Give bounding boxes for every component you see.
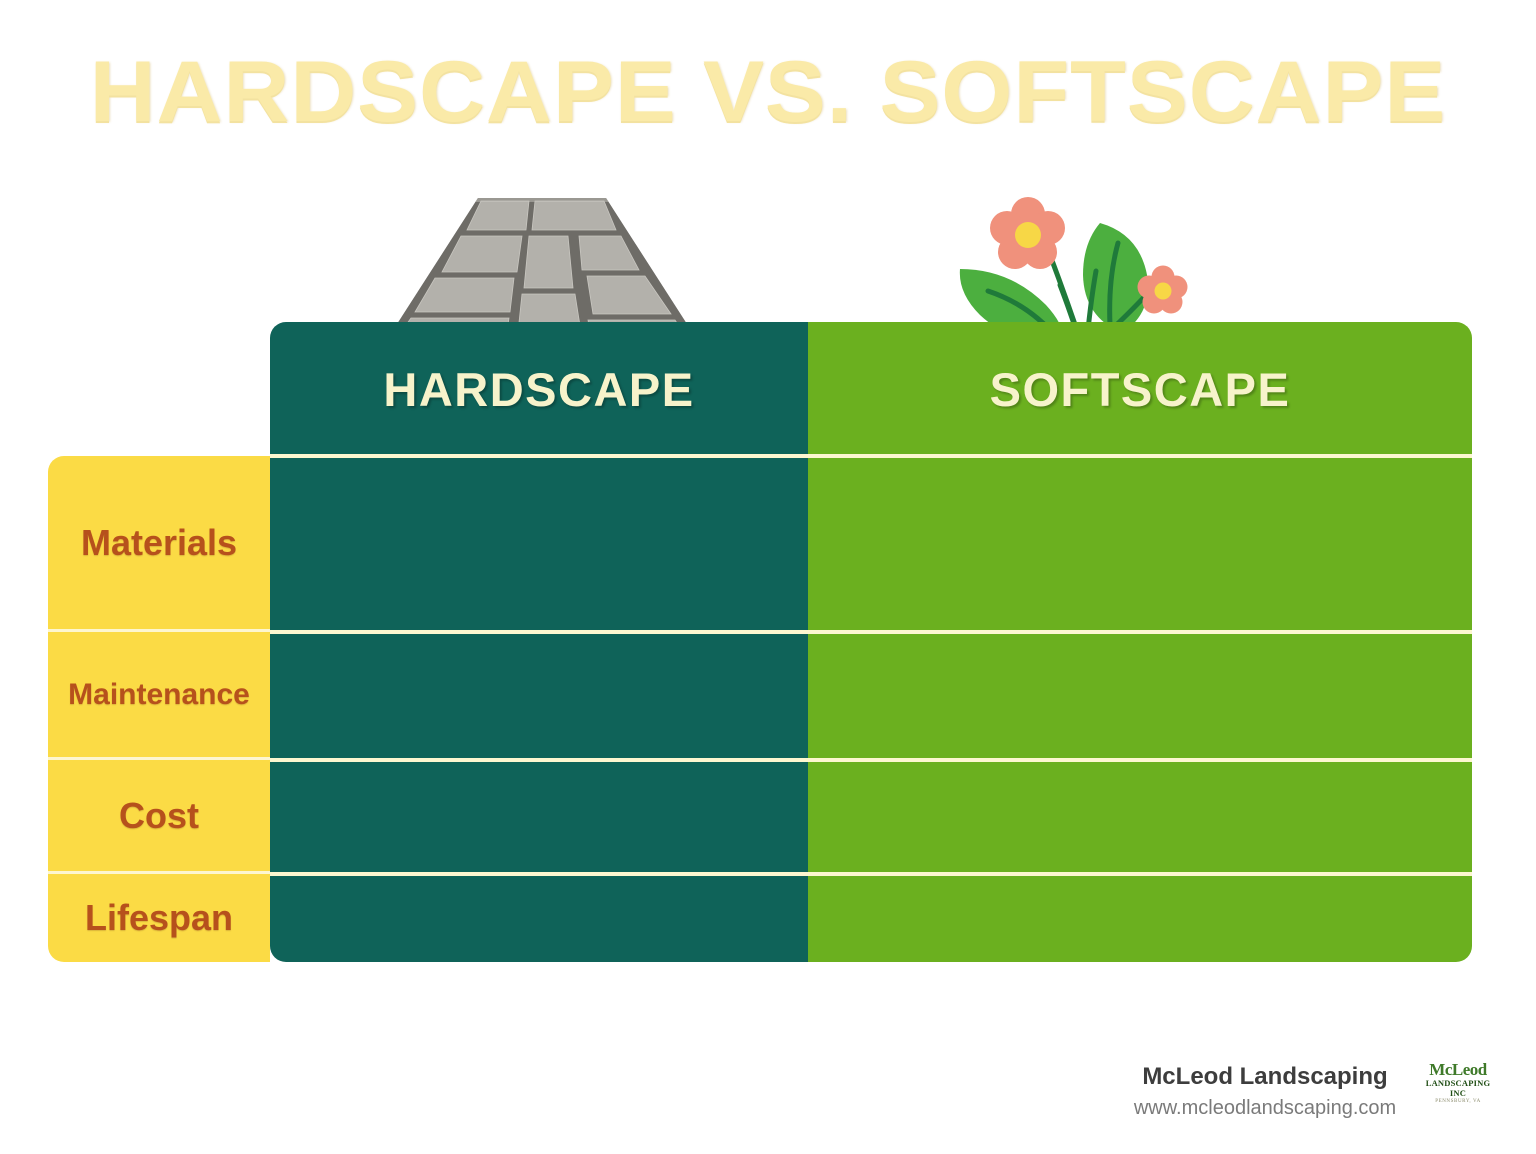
page-title: HARDSCAPE VS. SOFTSCAPE: [0, 44, 1536, 140]
logo-main-text: McLeod: [1417, 1061, 1499, 1078]
footer-brand-name: McLeod Landscaping: [1120, 1063, 1410, 1091]
mcleod-landscaping-logo: McLeod LANDSCAPING INC PENNSBURY, VA: [1417, 1061, 1499, 1107]
hardscape-column-header: HARDSCAPE: [270, 322, 808, 456]
row-separator: [270, 872, 1472, 876]
logo-sub-text: LANDSCAPING INC: [1417, 1078, 1499, 1098]
softscape-column-header: SOFTSCAPE: [808, 322, 1472, 456]
logo-location-text: PENNSBURY, VA: [1417, 1098, 1499, 1106]
row-label-cost: Cost: [48, 760, 270, 874]
row-separator: [270, 454, 1472, 458]
row-label-lifespan: Lifespan: [48, 874, 270, 962]
comparison-table: HARDSCAPE SOFTSCAPE Concrete, stone, bri…: [48, 322, 1472, 962]
row-label-maintenance: Maintenance: [48, 632, 270, 760]
row-separator: [270, 758, 1472, 762]
row-separator: [270, 630, 1472, 634]
softscape-column: SOFTSCAPE: [808, 322, 1472, 962]
hardscape-column: HARDSCAPE: [270, 322, 808, 962]
row-label-column: Materials Maintenance Cost Lifespan: [48, 456, 270, 962]
footer: McLeod Landscaping www.mcleodlandscaping…: [1080, 1055, 1500, 1135]
footer-website-url: www.mcleodlandscaping.com: [1120, 1097, 1410, 1120]
row-label-materials: Materials: [48, 456, 270, 632]
